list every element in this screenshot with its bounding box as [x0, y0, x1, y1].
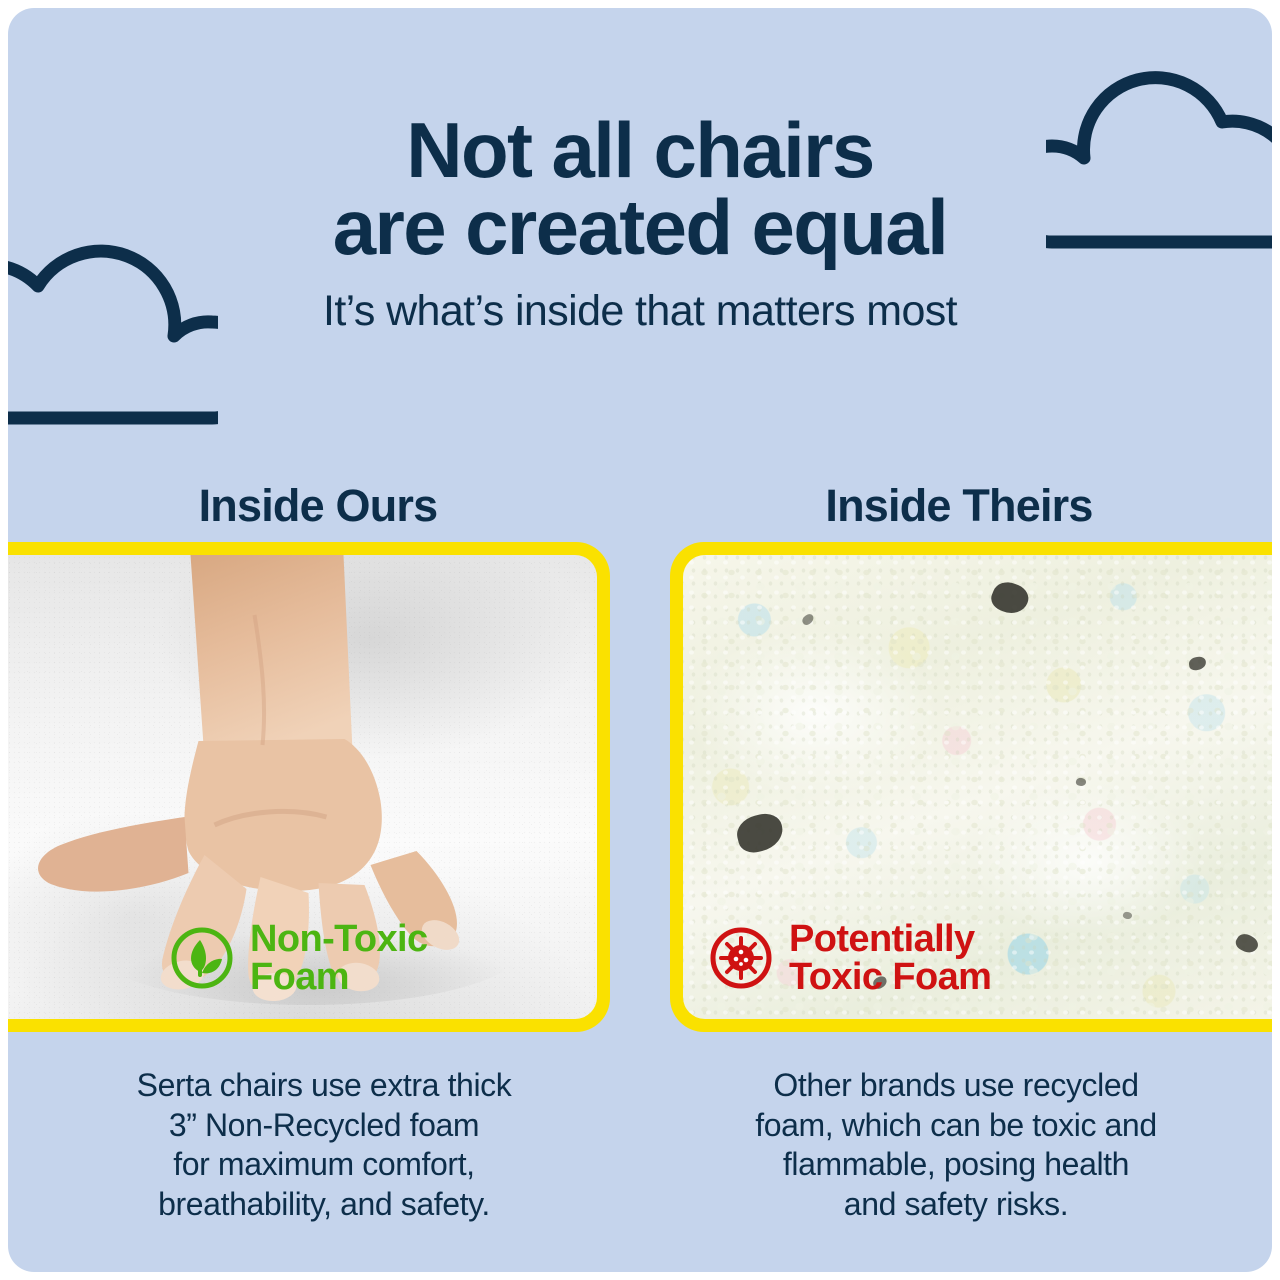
caption-theirs: Other brands use recycled foam, which ca…	[640, 1066, 1272, 1225]
infographic-page: Not all chairs are created equal It’s wh…	[0, 0, 1280, 1280]
comparison-columns: Inside Ours	[8, 470, 1272, 1250]
caption-line: for maximum comfort,	[26, 1145, 622, 1185]
header: Not all chairs are created equal It’s wh…	[8, 112, 1272, 336]
badge-label-potentially-toxic: Potentially Toxic Foam	[789, 920, 991, 998]
page-subtitle: It’s what’s inside that matters most	[8, 288, 1272, 335]
caption-line: Serta chairs use extra thick	[26, 1066, 622, 1106]
germ-icon	[709, 926, 773, 990]
page-title: Not all chairs are created equal	[8, 112, 1272, 266]
badge-line-2: Foam	[250, 958, 428, 997]
caption-line: flammable, posing health	[658, 1145, 1254, 1185]
headline-line-2: are created equal	[8, 189, 1272, 266]
caption-line: Other brands use recycled	[658, 1066, 1254, 1106]
caption-line: breathability, and safety.	[26, 1185, 622, 1225]
caption-line: 3” Non-Recycled foam	[26, 1106, 622, 1146]
caption-line: foam, which can be toxic and	[658, 1106, 1254, 1146]
foam-card-ours: Non-Toxic Foam	[8, 542, 610, 1032]
badge-label-non-toxic: Non-Toxic Foam	[250, 920, 428, 998]
leaf-icon	[170, 926, 234, 990]
badge-line-1: Non-Toxic	[250, 920, 428, 959]
badge-line-2: Toxic Foam	[789, 958, 991, 997]
comparison-column-ours: Inside Ours	[8, 470, 640, 1250]
column-title-ours: Inside Ours	[199, 470, 450, 542]
caption-ours: Serta chairs use extra thick 3” Non-Recy…	[8, 1066, 640, 1225]
caption-line: and safety risks.	[658, 1185, 1254, 1225]
foam-photo-ours: Non-Toxic Foam	[8, 555, 597, 1019]
foam-photo-theirs: Potentially Toxic Foam	[683, 555, 1272, 1019]
badge-non-toxic: Non-Toxic Foam	[170, 920, 428, 998]
comparison-column-theirs: Inside Theirs	[640, 470, 1272, 1250]
foam-card-theirs: Potentially Toxic Foam	[670, 542, 1272, 1032]
headline-line-1: Not all chairs	[8, 112, 1272, 189]
column-title-theirs: Inside Theirs	[819, 470, 1092, 542]
badge-potentially-toxic: Potentially Toxic Foam	[709, 920, 991, 998]
badge-line-1: Potentially	[789, 920, 991, 959]
infographic-panel: Not all chairs are created equal It’s wh…	[8, 8, 1272, 1272]
